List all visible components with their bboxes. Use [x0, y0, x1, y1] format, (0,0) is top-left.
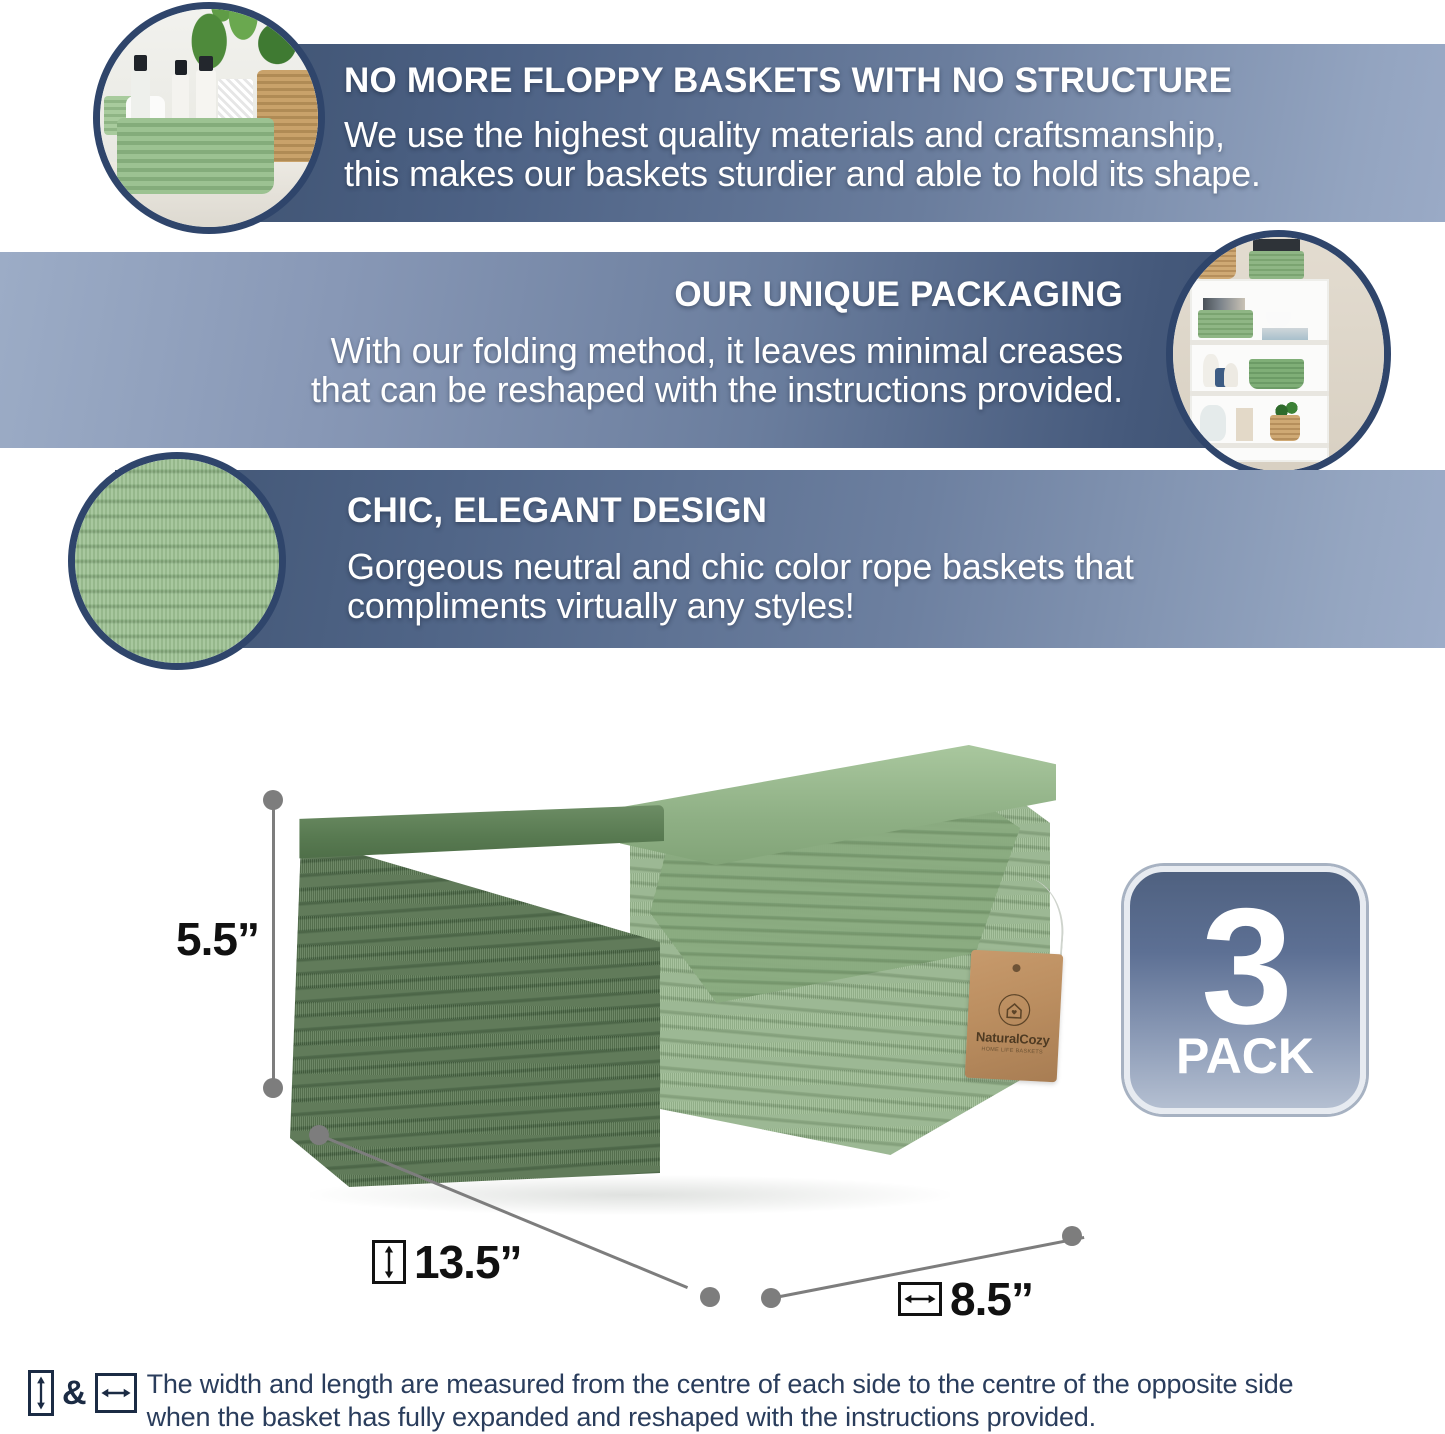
product-basket-image: NaturalCozy HOME LIFE BASKETS	[290, 745, 1050, 1265]
hangtag-brand-name: NaturalCozy	[976, 1029, 1050, 1048]
rope-texture-closeup-photo	[68, 452, 286, 670]
basket-front-panel	[290, 837, 660, 1187]
banner-1-heading: NO MORE FLOPPY BASKETS WITH NO STRUCTURE	[344, 62, 1232, 100]
banner-3-body: Gorgeous neutral and chic color rope bas…	[347, 548, 1134, 626]
book-stack	[1262, 328, 1308, 340]
height-dimension-value: 5.5”	[176, 912, 259, 966]
width-dimension-label: 13.5”	[372, 1235, 522, 1289]
vertical-arrow-icon	[28, 1370, 54, 1416]
width-dimension-endpoint	[700, 1287, 720, 1307]
green-rope-basket	[1198, 310, 1253, 338]
footnote-line-1: The width and length are measured from t…	[147, 1368, 1294, 1401]
toiletry-bottle	[172, 74, 189, 122]
banner-3-body-line-2: compliments virtually any styles!	[347, 587, 1134, 626]
banner-2-body-line-2: that can be reshaped with the instructio…	[311, 371, 1123, 410]
feature-banner-unique-packaging: OUR UNIQUE PACKAGING With our folding me…	[0, 252, 1283, 448]
horizontal-arrow-icon	[898, 1282, 942, 1316]
basket-handle-cutout	[398, 781, 528, 807]
banner-3-heading: CHIC, ELEGANT DESIGN	[347, 492, 767, 530]
shelf-divider	[1190, 340, 1329, 345]
decor-card	[1236, 408, 1253, 441]
height-dimension-label: 5.5”	[176, 912, 259, 966]
green-rope-basket	[1249, 359, 1304, 389]
woven-planter	[1194, 242, 1236, 279]
basket-rim-front	[292, 805, 664, 863]
measurement-footnote: & The width and length are measured from…	[28, 1368, 1428, 1434]
green-rope-basket	[1249, 251, 1304, 279]
width-dimension-value: 13.5”	[414, 1235, 522, 1289]
height-dimension-line	[272, 800, 275, 1088]
feature-banner-no-structure: NO MORE FLOPPY BASKETS WITH NO STRUCTURE…	[222, 44, 1445, 222]
bathroom-basket-photo	[93, 2, 325, 234]
footnote-line-2: when the basket has fully expanded and r…	[147, 1401, 1294, 1434]
banner-2-body: With our folding method, it leaves minim…	[311, 332, 1123, 410]
glass-vessel	[1200, 405, 1225, 440]
footnote-icon-group: &	[28, 1368, 137, 1416]
height-dimension-endpoint	[263, 1078, 283, 1098]
depth-dimension-endpoint	[1062, 1226, 1082, 1246]
banner-3-body-line-1: Gorgeous neutral and chic color rope bas…	[347, 548, 1134, 587]
pack-count-number: 3	[1201, 899, 1289, 1034]
banner-2-heading: OUR UNIQUE PACKAGING	[674, 276, 1123, 314]
depth-dimension-label: 8.5”	[898, 1272, 1033, 1326]
hangtag-tagline: HOME LIFE BASKETS	[981, 1046, 1043, 1055]
width-dimension-endpoint	[309, 1125, 329, 1145]
ceramic-vase	[1224, 363, 1239, 386]
ampersand-label: &	[62, 1376, 87, 1410]
house-heart-logo-icon	[996, 992, 1032, 1028]
green-rope-basket	[117, 118, 274, 194]
bookshelf-baskets-photo	[1166, 230, 1391, 478]
banner-1-body-line-1: We use the highest quality materials and…	[344, 116, 1261, 155]
hangtag: NaturalCozy HOME LIFE BASKETS	[965, 950, 1064, 1083]
pack-count-label: PACK	[1176, 1031, 1314, 1081]
depth-dimension-value: 8.5”	[950, 1272, 1033, 1326]
banner-2-body-line-1: With our folding method, it leaves minim…	[311, 332, 1123, 371]
feature-banner-chic-design: CHIC, ELEGANT DESIGN Gorgeous neutral an…	[115, 470, 1445, 648]
woven-planter	[1270, 415, 1300, 441]
banner-1-body-line-2: this makes our baskets sturdier and able…	[344, 155, 1261, 194]
banner-1-body: We use the highest quality materials and…	[344, 116, 1261, 194]
toiletry-bottle	[196, 70, 216, 125]
shelf-divider	[1190, 391, 1329, 396]
pack-count-badge: 3 PACK	[1124, 866, 1366, 1114]
vertical-arrow-icon	[372, 1240, 406, 1284]
shelf-divider	[1190, 443, 1329, 448]
rope-weave-texture	[75, 459, 279, 663]
toiletry-bottle	[131, 70, 151, 122]
depth-dimension-endpoint	[761, 1288, 781, 1308]
infographic-canvas: NO MORE FLOPPY BASKETS WITH NO STRUCTURE…	[0, 0, 1445, 1432]
hangtag-hole	[1012, 964, 1020, 972]
horizontal-arrow-icon	[95, 1373, 137, 1413]
height-dimension-endpoint	[263, 790, 283, 810]
footnote-text: The width and length are measured from t…	[147, 1368, 1294, 1434]
basket-handle-cutout	[528, 765, 614, 787]
